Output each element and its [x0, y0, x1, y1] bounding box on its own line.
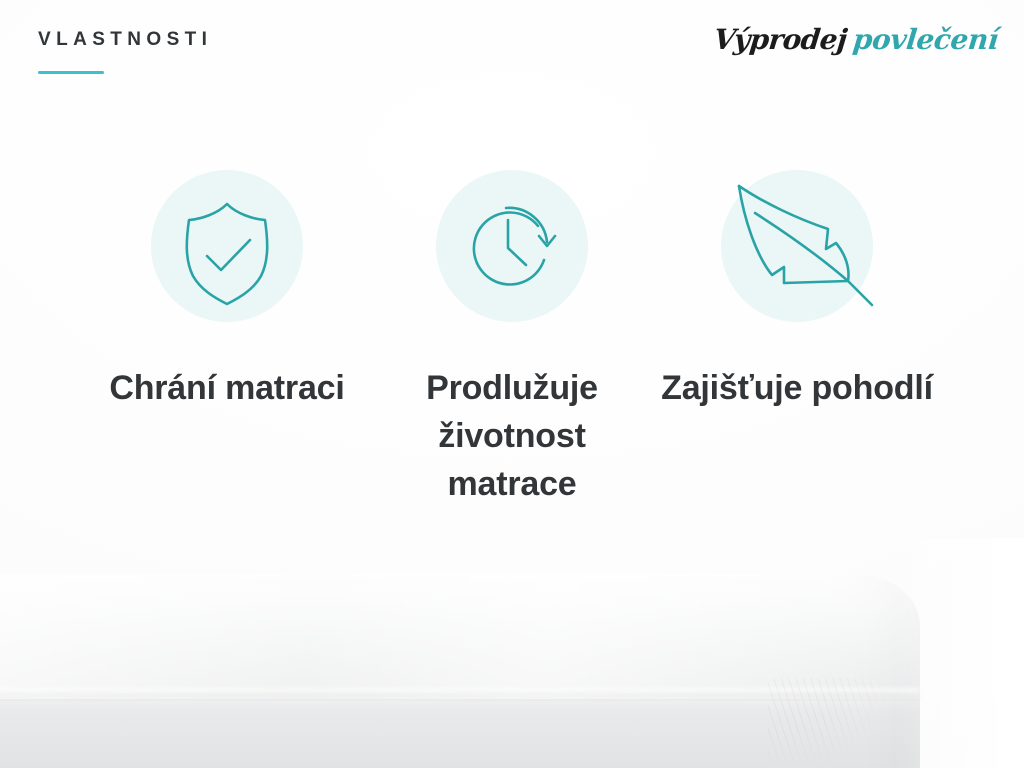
features-row: Chrání matraci Prodlužuje životnost matr… — [0, 170, 1024, 508]
mattress-corner-photo — [0, 538, 1024, 768]
feature-item-comfort: Zajišťuje pohodlí — [655, 170, 940, 412]
icon-container — [151, 170, 303, 322]
icon-container — [436, 170, 588, 322]
brand-logo[interactable]: Výprodejpovlečení — [714, 26, 998, 54]
brand-word-teal: povlečení — [851, 26, 999, 54]
mattress-body — [0, 574, 920, 768]
icon-container — [721, 170, 873, 322]
title-underline-rule — [38, 71, 104, 74]
shield-check-icon — [167, 186, 287, 306]
slide-root: VLASTNOSTI Výprodejpovlečení Chrání matr… — [0, 0, 1024, 768]
feather-leaf-icon — [722, 171, 872, 321]
slide-header: VLASTNOSTI Výprodejpovlečení — [0, 0, 1024, 110]
mattress-top-edge-highlight — [0, 688, 920, 698]
brand-word-dark: Výprodej — [713, 26, 849, 54]
feature-label: Zajišťuje pohodlí — [661, 364, 933, 412]
feature-item-longevity: Prodlužuje životnost matrace — [370, 170, 655, 508]
page-title: VLASTNOSTI — [38, 30, 212, 49]
feature-label: Prodlužuje životnost matrace — [370, 364, 655, 508]
feature-item-protects: Chrání matraci — [85, 170, 370, 412]
clock-rotate-icon — [452, 186, 572, 306]
feature-label: Chrání matraci — [109, 364, 344, 412]
